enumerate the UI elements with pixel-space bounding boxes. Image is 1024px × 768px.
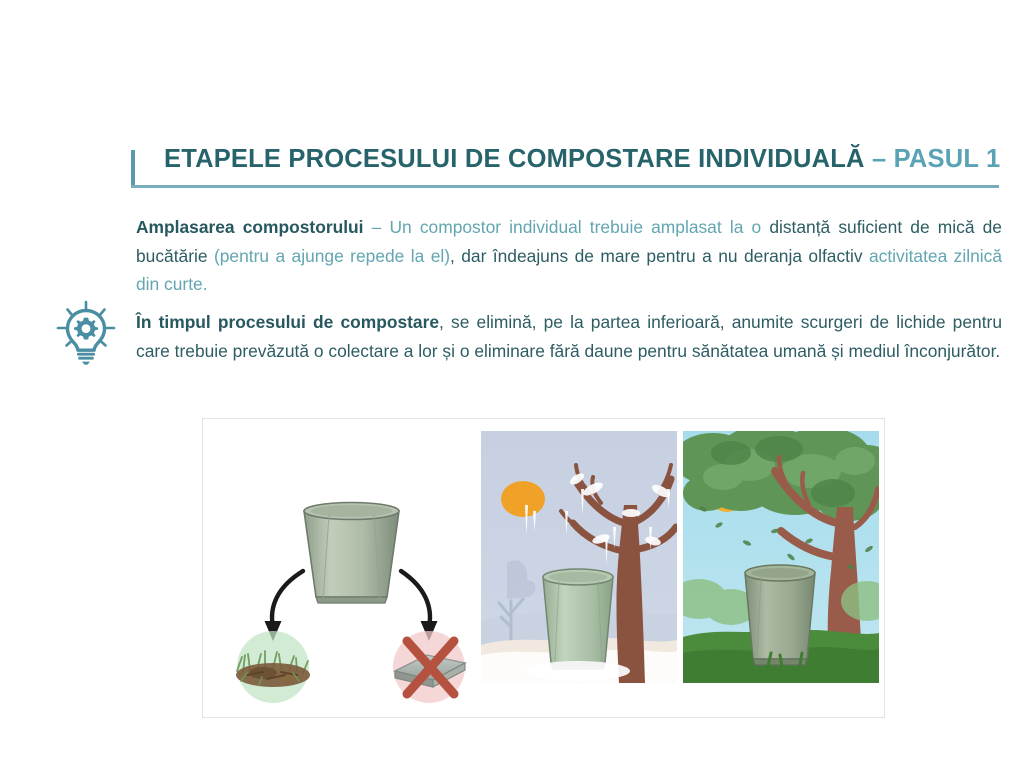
arrow-to-bad-slab <box>401 571 438 641</box>
illustration-summer-scene <box>683 431 879 683</box>
page-title: ETAPELE PROCESULUI DE COMPOSTARE INDIVID… <box>164 142 1000 176</box>
paragraph-placement-run-1: Un compostor individual trebuie amplasat… <box>389 217 769 237</box>
slide-title-block: ETAPELE PROCESULUI DE COMPOSTARE INDIVID… <box>131 142 999 188</box>
paragraph-placement-run-4: , dar îndeajuns de mare pentru a nu dera… <box>450 246 869 266</box>
paragraph-leachate-lead: În timpul procesului de compostare <box>136 312 439 332</box>
slide-canvas: ETAPELE PROCESULUI DE COMPOSTARE INDIVID… <box>0 0 1024 768</box>
illustration-panel <box>202 418 885 718</box>
composter-bin <box>543 569 613 669</box>
paragraph-placement-dash: – <box>364 217 390 237</box>
arrow-to-good-ground <box>265 571 304 641</box>
option-concrete-slab <box>393 631 465 703</box>
paragraph-placement-run-3: (pentru a ajunge repede la el) <box>214 246 450 266</box>
title-underline <box>131 185 999 188</box>
page-title-accent: – PASUL 1 <box>872 145 1000 173</box>
title-left-accent-bar <box>131 150 135 188</box>
illustration-placement-diagram <box>211 449 491 704</box>
composter-bin <box>304 503 399 604</box>
sun-icon <box>501 481 545 517</box>
illustration-winter-scene <box>481 431 677 683</box>
paragraph-placement: Amplasarea compostorului – Un compostor … <box>136 213 1002 299</box>
composter-bin <box>745 565 815 665</box>
lightbulb-idea-icon <box>55 300 117 366</box>
option-grass-soil <box>236 631 310 703</box>
page-title-main: ETAPELE PROCESULUI DE COMPOSTARE INDIVID… <box>164 145 872 173</box>
paragraph-placement-lead: Amplasarea compostorului <box>136 217 364 237</box>
paragraph-leachate: În timpul procesului de compostare, se e… <box>136 308 1002 365</box>
